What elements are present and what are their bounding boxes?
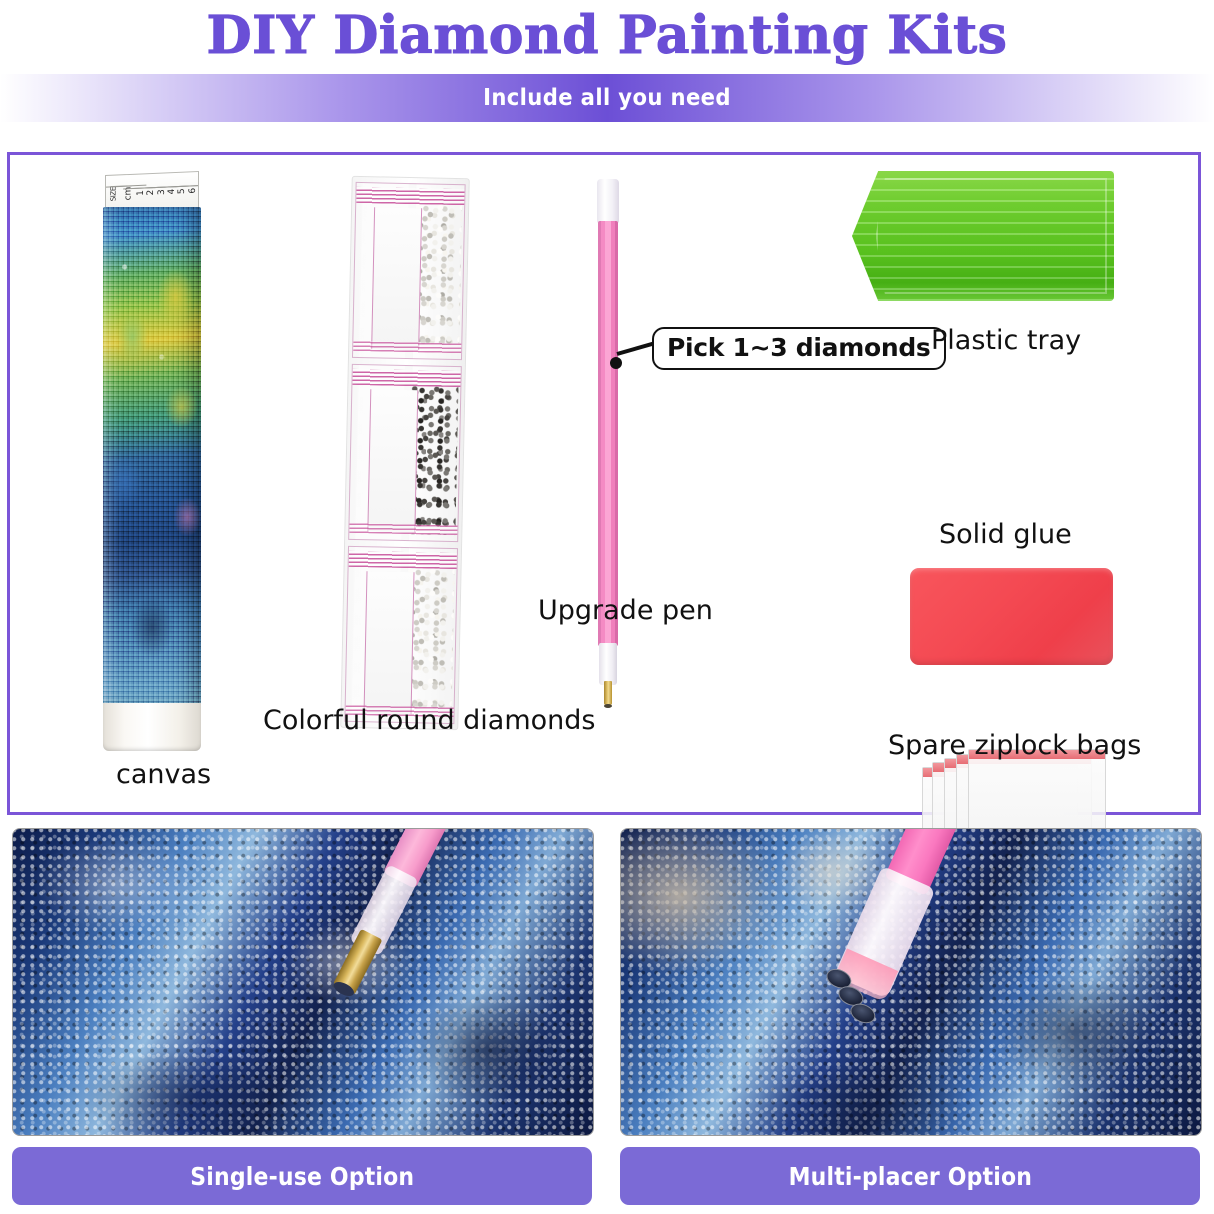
caption-diamonds: Colorful round diamonds bbox=[263, 705, 596, 736]
diamond-pen bbox=[593, 179, 623, 727]
single-use-option-label: Single-use Option bbox=[190, 1162, 414, 1191]
pen-gold-tip bbox=[604, 681, 612, 705]
diamond-bag bbox=[348, 364, 462, 542]
caption-glue: Solid glue bbox=[939, 519, 1072, 550]
infographic-page: DIY Diamond Painting Kits Include all yo… bbox=[0, 0, 1214, 1214]
caption-ziplock: Spare ziplock bags bbox=[888, 730, 1141, 761]
multi-placer-option-label: Multi-placer Option bbox=[788, 1162, 1032, 1191]
canvas-artwork bbox=[103, 207, 201, 707]
header-subtitle-text: Include all you need bbox=[483, 85, 731, 111]
canvas-bead-background bbox=[13, 829, 593, 1135]
solid-glue bbox=[910, 568, 1113, 665]
bag-zip-seal bbox=[352, 369, 461, 387]
single-use-option-button[interactable]: Single-use Option bbox=[12, 1147, 592, 1205]
kit-contents-panel: SIZE cm 1 2 3 4 5 6 bbox=[7, 152, 1201, 815]
pen-body bbox=[598, 221, 618, 646]
callout-dot bbox=[610, 357, 622, 369]
bag-zip-bottom bbox=[349, 523, 459, 535]
header-subtitle: Include all you need bbox=[49, 74, 1166, 122]
bag-zip-seal bbox=[349, 551, 458, 569]
ruler-tick-6: 6 bbox=[175, 184, 199, 196]
bag-label bbox=[367, 389, 418, 532]
photo-multi-placer bbox=[620, 828, 1202, 1136]
bag-zip-bottom bbox=[353, 341, 463, 353]
diamond-bag bbox=[352, 182, 466, 360]
canvas-roll-base bbox=[103, 703, 201, 751]
diamond-bags-stack bbox=[340, 176, 470, 730]
plastic-tray bbox=[852, 171, 1114, 301]
page-title: DIY Diamond Painting Kits bbox=[0, 6, 1214, 66]
pen-gold-nozzle bbox=[333, 929, 383, 995]
bag-zip-seal bbox=[356, 187, 465, 205]
bag-label bbox=[371, 207, 422, 350]
diamond-bag bbox=[344, 546, 458, 724]
pen-cap bbox=[597, 179, 619, 223]
caption-tray: Plastic tray bbox=[931, 325, 1081, 356]
canvas-roll: SIZE cm 1 2 3 4 5 6 bbox=[103, 173, 201, 753]
photo-single-use bbox=[12, 828, 594, 1136]
caption-pen: Upgrade pen bbox=[538, 595, 713, 626]
bag-label bbox=[364, 571, 415, 714]
header: DIY Diamond Painting Kits Include all yo… bbox=[0, 0, 1214, 140]
pen-neck bbox=[599, 643, 617, 685]
multi-placer-option-button[interactable]: Multi-placer Option bbox=[620, 1147, 1200, 1205]
caption-canvas: canvas bbox=[116, 759, 211, 790]
pick-diamonds-callout: Pick 1~3 diamonds bbox=[652, 327, 946, 370]
